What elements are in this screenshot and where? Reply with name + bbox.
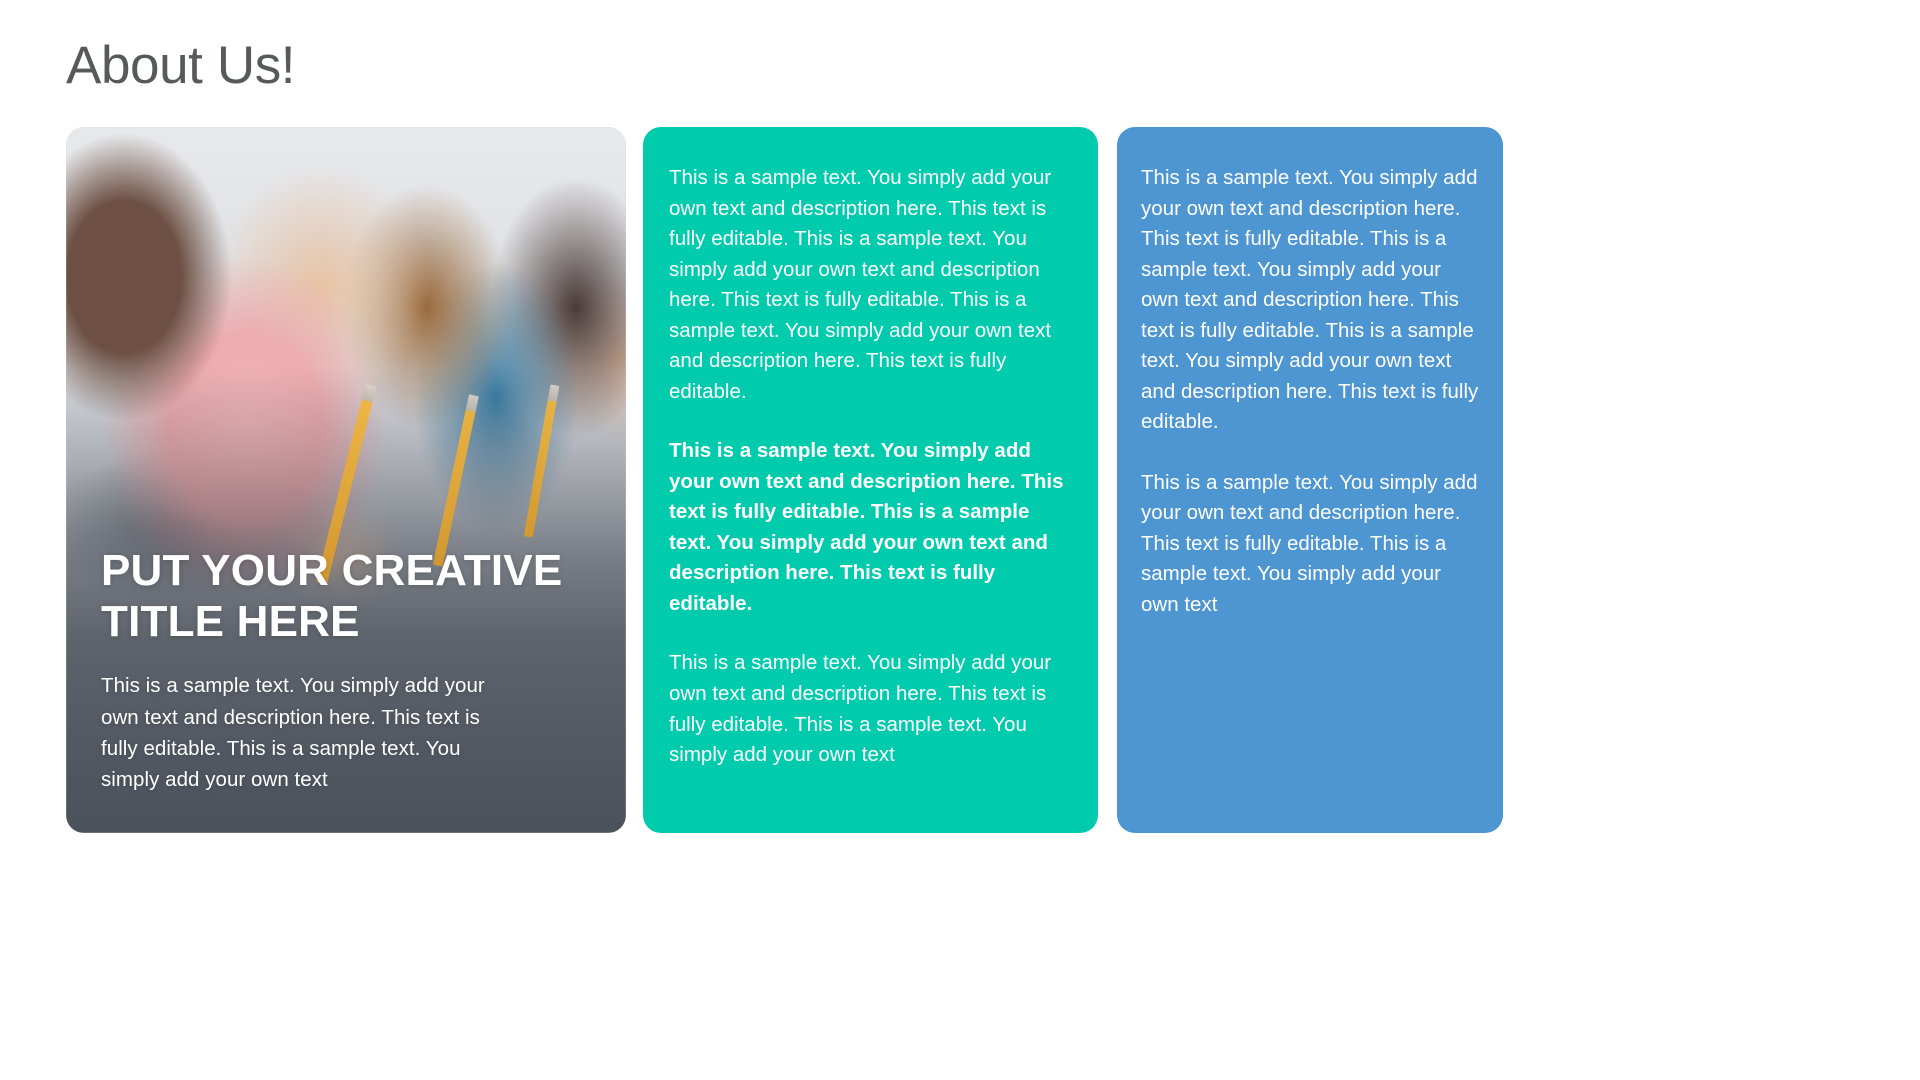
- page-title: About Us!: [66, 36, 295, 97]
- teal-text-card[interactable]: This is a sample text. You simply add yo…: [643, 127, 1098, 833]
- teal-paragraph-3: This is a sample text. You simply add yo…: [669, 648, 1065, 770]
- blue-paragraph-1: This is a sample text. You simply add yo…: [1141, 163, 1481, 438]
- teal-paragraph-2-bold: This is a sample text. You simply add yo…: [669, 436, 1065, 619]
- image-card[interactable]: PUT YOUR CREATIVE TITLE HERE This is a s…: [66, 127, 626, 833]
- hero-title: PUT YOUR CREATIVE TITLE HERE: [101, 545, 596, 649]
- teal-paragraph-1: This is a sample text. You simply add yo…: [669, 163, 1065, 407]
- blue-text-card[interactable]: This is a sample text. You simply add yo…: [1117, 127, 1503, 833]
- image-card-overlay: PUT YOUR CREATIVE TITLE HERE This is a s…: [101, 545, 596, 795]
- hero-body-text: This is a sample text. You simply add yo…: [101, 670, 513, 795]
- blue-paragraph-2: This is a sample text. You simply add yo…: [1141, 468, 1481, 621]
- slide-canvas: About Us! PUT YOUR CREATIVE TITLE HERE T…: [0, 0, 1920, 1080]
- cards-row: PUT YOUR CREATIVE TITLE HERE This is a s…: [0, 127, 1920, 833]
